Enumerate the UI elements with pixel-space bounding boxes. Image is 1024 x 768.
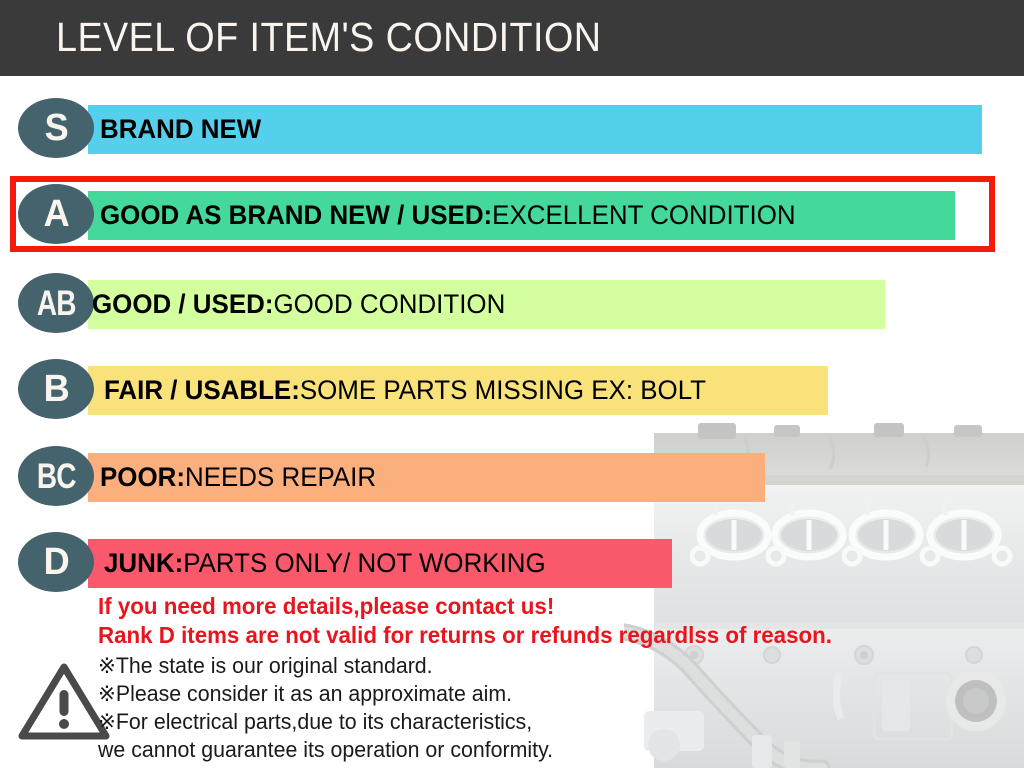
footer-note-line-3: ※For electrical parts,due to its charact… (98, 708, 553, 736)
rank-badge-label: S (44, 109, 67, 147)
rank-badge-label: BC (37, 459, 76, 494)
rank-bold-text: GOOD / USED: (92, 289, 273, 320)
rank-badge-d: D (18, 532, 94, 592)
rank-text-bc: POOR: NEEDS REPAIR (100, 453, 376, 502)
rank-normal-text: EXCELLENT CONDITION (492, 200, 795, 231)
rank-normal-text: SOME PARTS MISSING EX: BOLT (300, 375, 706, 406)
rank-normal-text: NEEDS REPAIR (185, 462, 376, 493)
rank-bold-text: GOOD AS BRAND NEW / USED: (100, 200, 492, 231)
footer-note-line-2: ※Please consider it as an approximate ai… (98, 680, 553, 708)
rank-badge-b: B (18, 359, 94, 419)
rank-badge-label: AB (37, 286, 76, 321)
rank-bold-text: BRAND NEW (100, 114, 261, 145)
rank-normal-text: GOOD CONDITION (273, 289, 505, 320)
rank-badge-label: B (43, 370, 68, 408)
warning-triangle-icon (18, 660, 110, 742)
rank-text-a: GOOD AS BRAND NEW / USED: EXCELLENT COND… (100, 191, 796, 240)
rank-badge-bc: BC (18, 446, 94, 506)
rank-badge-label: A (43, 195, 68, 233)
rank-badge-s: S (18, 98, 94, 158)
rank-text-d: JUNK: PARTS ONLY/ NOT WORKING (104, 539, 546, 588)
footer-note-line-1: ※The state is our original standard. (98, 652, 553, 680)
rank-badge-ab: AB (18, 273, 94, 333)
footer-note-lines: ※The state is our original standard. ※Pl… (98, 652, 553, 764)
rank-normal-text: PARTS ONLY/ NOT WORKING (183, 548, 545, 579)
footer-alert-lines: If you need more details,please contact … (98, 592, 832, 650)
footer-note-line-4: we cannot guarantee its operation or con… (98, 736, 553, 764)
rank-text-b: FAIR / USABLE: SOME PARTS MISSING EX: BO… (104, 366, 706, 415)
rank-bold-text: JUNK: (104, 548, 183, 579)
rank-badge-a: A (18, 184, 94, 244)
rank-text-ab: GOOD / USED: GOOD CONDITION (92, 280, 505, 329)
rank-badge-label: D (43, 543, 68, 581)
rank-bold-text: POOR: (100, 462, 185, 493)
footer-alert-line-1: If you need more details,please contact … (98, 592, 832, 621)
page-title: LEVEL OF ITEM'S CONDITION (56, 14, 601, 61)
header-bar: LEVEL OF ITEM'S CONDITION (0, 0, 1024, 76)
footer-alert-line-2: Rank D items are not valid for returns o… (98, 621, 832, 650)
rank-text-s: BRAND NEW (100, 105, 261, 154)
rank-bold-text: FAIR / USABLE: (104, 375, 300, 406)
